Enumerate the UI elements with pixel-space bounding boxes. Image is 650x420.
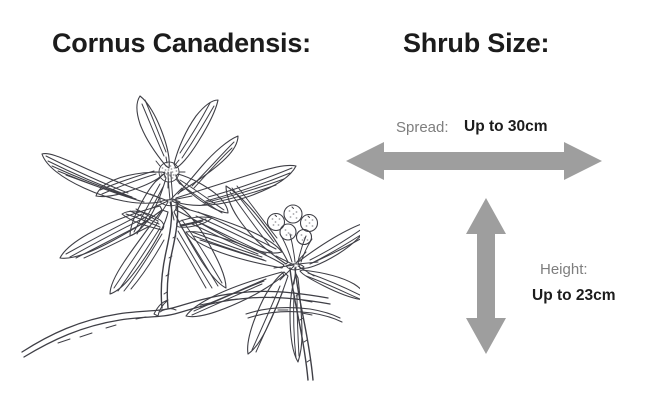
page-title-shrub-size: Shrub Size: xyxy=(403,30,549,57)
spread-value: Up to 30cm xyxy=(464,119,548,135)
leaf-whorl-lower xyxy=(186,186,360,362)
double-headed-vertical-arrow-shape xyxy=(466,198,506,354)
spread-label: Spread: xyxy=(396,120,449,135)
height-arrow xyxy=(462,198,510,354)
page-title-plant: Cornus Canadensis: xyxy=(52,30,311,57)
height-value: Up to 23cm xyxy=(532,288,616,304)
double-headed-horizontal-arrow-shape xyxy=(346,142,602,180)
infographic-canvas: Cornus Canadensis: Shrub Size: xyxy=(0,0,650,420)
cornus-canadensis-illustration xyxy=(10,62,360,392)
height-label: Height: xyxy=(540,262,588,277)
spread-arrow xyxy=(346,140,602,182)
